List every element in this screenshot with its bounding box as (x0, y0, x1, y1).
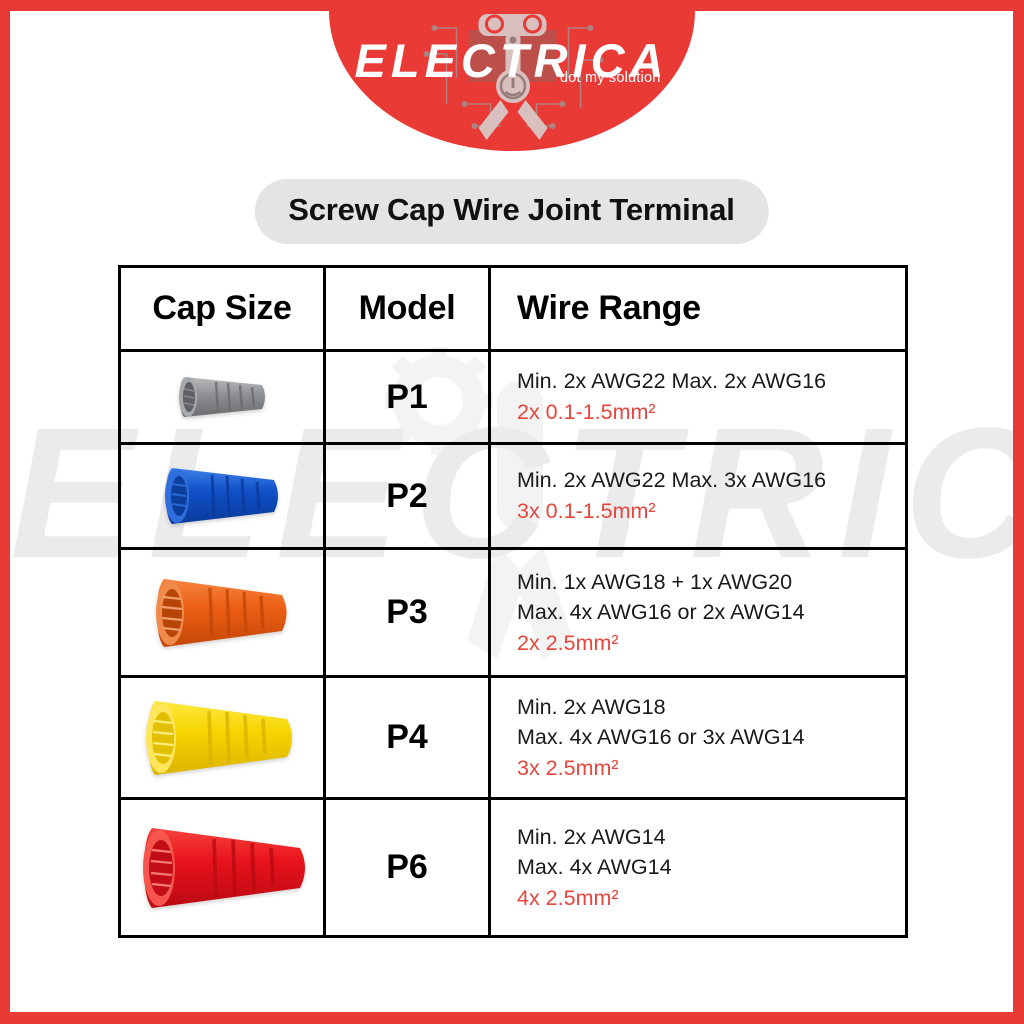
wire-range-metric: 3x 2.5mm² (517, 753, 905, 784)
wire-range-line: Max. 4x AWG14 (517, 852, 905, 883)
cell-model: P4 (326, 678, 491, 797)
wire-range-metric: 3x 0.1-1.5mm² (517, 496, 905, 527)
cell-cap-image (121, 800, 326, 935)
wire-range-line: Min. 2x AWG22 Max. 2x AWG16 (517, 366, 905, 397)
table-row: P4 Min. 2x AWG18 Max. 4x AWG16 or 3x AWG… (121, 678, 905, 800)
model-label: P4 (386, 718, 428, 757)
header-label-wire-range: Wire Range (517, 289, 905, 328)
wire-range-line: Max. 4x AWG16 or 3x AWG14 (517, 722, 905, 753)
wire-nut-icon (129, 693, 315, 783)
wire-nut-icon (128, 820, 328, 916)
spec-table: Cap Size Model Wire Range (118, 265, 908, 938)
cell-cap-image (121, 550, 326, 675)
page-title: Screw Cap Wire Joint Terminal (254, 179, 768, 244)
model-label: P3 (386, 593, 428, 632)
table-row: P2 Min. 2x AWG22 Max. 3x AWG16 3x 0.1-1.… (121, 445, 905, 550)
cell-wire-range: Min. 2x AWG14 Max. 4x AWG14 4x 2.5mm² (491, 800, 905, 935)
model-label: P6 (386, 848, 428, 887)
logo-tagline: dot my solution (560, 70, 661, 86)
header-label-model: Model (359, 289, 456, 328)
table-row: P1 Min. 2x AWG22 Max. 2x AWG16 2x 0.1-1.… (121, 352, 905, 445)
cell-model: P3 (326, 550, 491, 675)
wire-nut-icon (136, 571, 308, 655)
cell-wire-range: Min. 2x AWG22 Max. 3x AWG16 3x 0.1-1.5mm… (491, 445, 905, 547)
wire-nut-icon (148, 460, 296, 532)
cell-wire-range: Min. 1x AWG18 + 1x AWG20 Max. 4x AWG16 o… (491, 550, 905, 675)
cell-cap-image (121, 678, 326, 797)
wire-range-line: Min. 2x AWG14 (517, 822, 905, 853)
wire-range-line: Min. 2x AWG18 (517, 692, 905, 723)
header-cell-model: Model (326, 268, 491, 349)
table-row: P6 Min. 2x AWG14 Max. 4x AWG14 4x 2.5mm² (121, 800, 905, 935)
cell-cap-image (121, 445, 326, 547)
wire-range-line: Max. 4x AWG16 or 2x AWG14 (517, 597, 905, 628)
wire-nut-icon (166, 369, 278, 425)
wire-range-line: Min. 1x AWG18 + 1x AWG20 (517, 567, 905, 598)
page-inner: ELECTRICA (10, 11, 1013, 1012)
table-row: P3 Min. 1x AWG18 + 1x AWG20 Max. 4x AWG1… (121, 550, 905, 678)
model-label: P1 (386, 378, 428, 417)
wire-range-metric: 2x 2.5mm² (517, 628, 905, 659)
cell-model: P1 (326, 352, 491, 442)
model-label: P2 (386, 477, 428, 516)
product-spec-page: ELECTRICA (0, 0, 1024, 1024)
page-title-text: Screw Cap Wire Joint Terminal (288, 192, 734, 227)
wire-range-metric: 2x 0.1-1.5mm² (517, 397, 905, 428)
wire-range-metric: 4x 2.5mm² (517, 883, 905, 914)
cell-wire-range: Min. 2x AWG22 Max. 2x AWG16 2x 0.1-1.5mm… (491, 352, 905, 442)
cell-cap-image (121, 352, 326, 442)
header-cell-cap-size: Cap Size (121, 268, 326, 349)
cell-model: P2 (326, 445, 491, 547)
header-cell-wire-range: Wire Range (491, 268, 905, 349)
brand-logo-banner: ELECTRICA dot my solution (329, 11, 695, 151)
cell-model: P6 (326, 800, 491, 935)
wire-range-line: Min. 2x AWG22 Max. 3x AWG16 (517, 465, 905, 496)
table-header-row: Cap Size Model Wire Range (121, 268, 905, 352)
cell-wire-range: Min. 2x AWG18 Max. 4x AWG16 or 3x AWG14 … (491, 678, 905, 797)
header-label-cap-size: Cap Size (152, 289, 291, 328)
